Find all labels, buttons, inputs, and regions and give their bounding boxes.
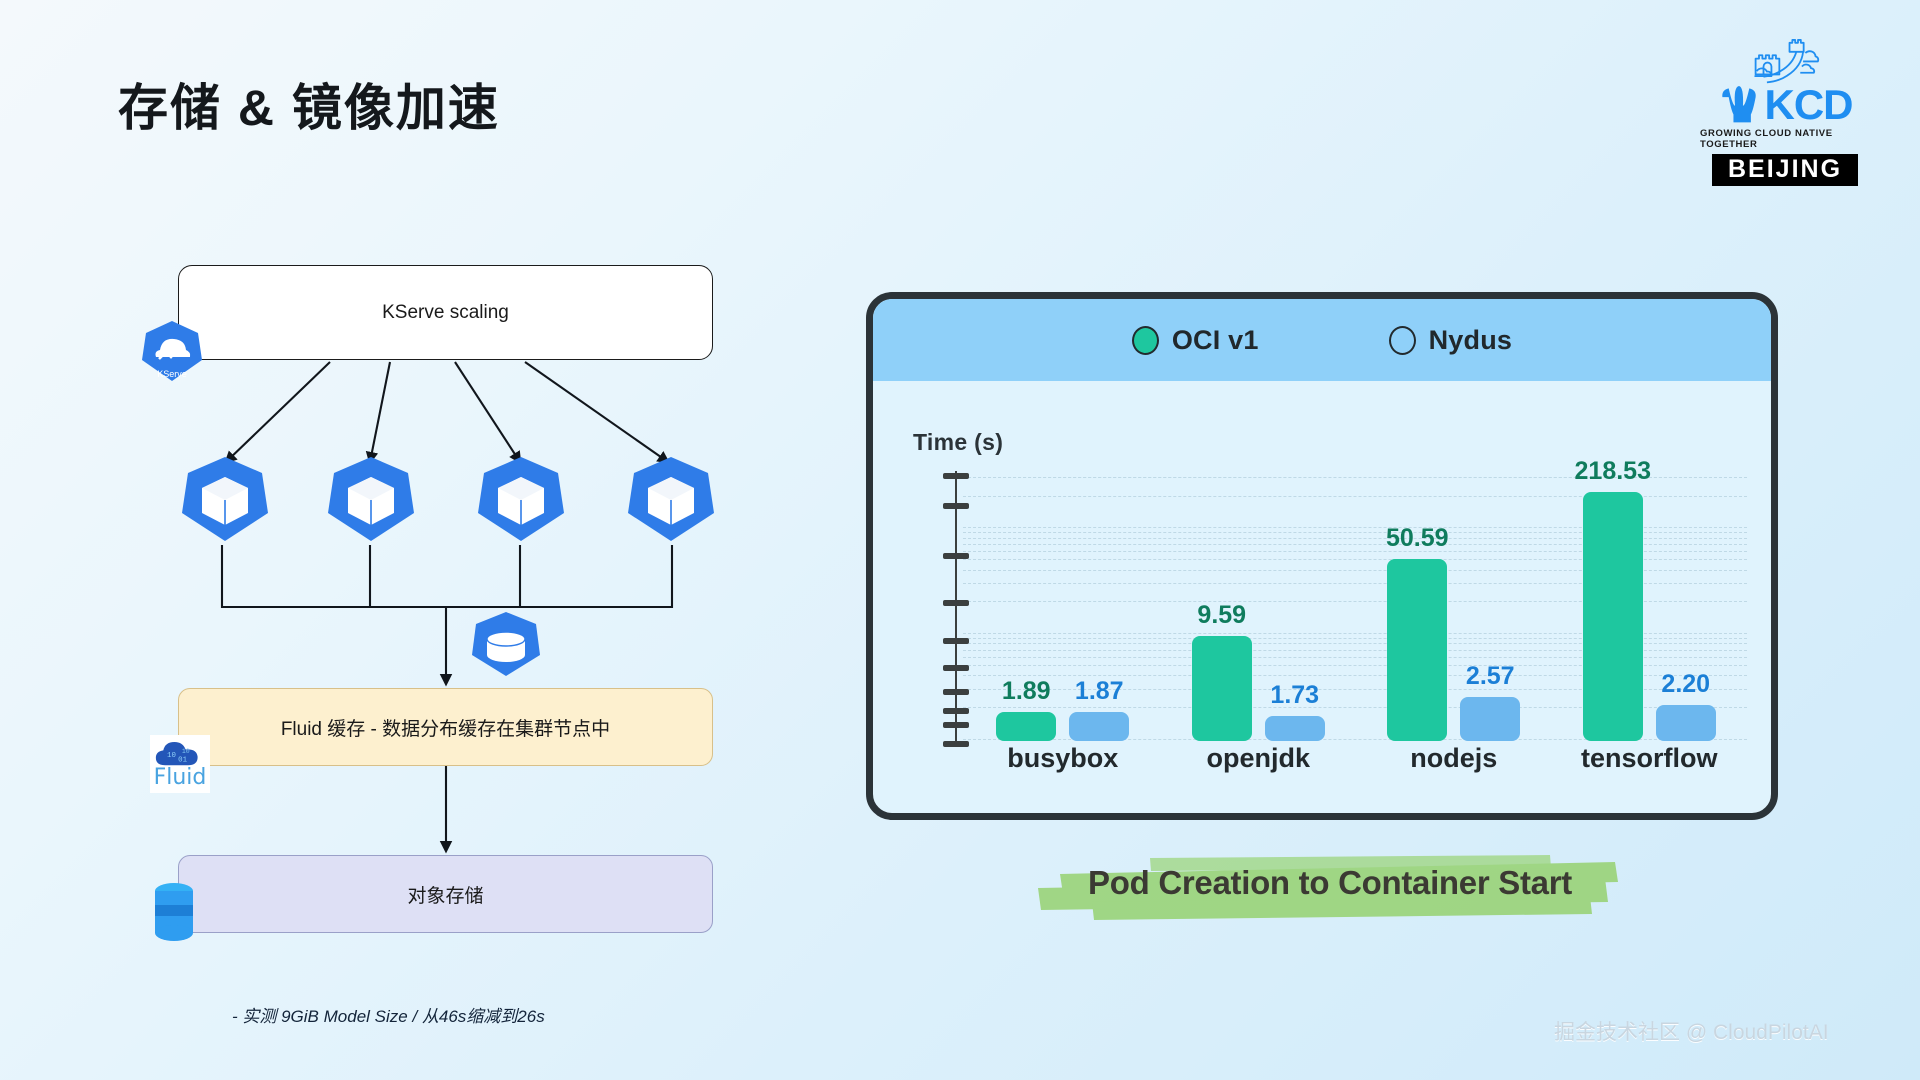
pod-node-3	[476, 455, 566, 548]
object-storage-label: 对象存储	[407, 881, 483, 908]
svg-text:KServe: KServe	[157, 369, 187, 379]
fluid-cache-label: Fluid 缓存 - 数据分布缓存在集群节点中	[281, 714, 610, 741]
legend-item-oci-v1[interactable]: OCI v1	[1132, 325, 1259, 356]
kserve-scaling-box: KServe scaling	[178, 265, 713, 360]
bar-value-label: 1.87	[1075, 677, 1124, 706]
watermark: 掘金技术社区 @ CloudPilotAI	[1554, 1016, 1829, 1046]
bar[interactable]	[1265, 716, 1325, 741]
bar[interactable]	[1069, 712, 1129, 741]
bar-value-label: 1.89	[1002, 677, 1051, 706]
kubernetes-persistent-volume-icon	[470, 610, 542, 678]
benchmark-chart-card: OCI v1 Nydus Time (s) 1.891.879.591.7350…	[866, 292, 1778, 820]
kcd-letters: KCD	[1765, 84, 1853, 126]
bar-group: 9.591.73	[1161, 477, 1357, 741]
fluid-cache-box: Fluid 缓存 - 数据分布缓存在集群节点中	[178, 688, 713, 766]
bar-group: 218.532.20	[1552, 477, 1748, 741]
legend-dot-oci-v1	[1132, 326, 1159, 355]
bar-wrapper: 1.89	[996, 477, 1056, 741]
diagram-footnote: - 实测 9GiB Model Size / 从46s缩减到26s	[232, 1002, 545, 1027]
bar-wrapper: 9.59	[1192, 477, 1252, 741]
bar-wrapper: 50.59	[1387, 477, 1447, 741]
fluid-wordmark: Fluid	[154, 769, 207, 788]
x-axis-label: nodejs	[1356, 743, 1552, 774]
y-axis	[955, 471, 957, 743]
bar[interactable]	[1656, 705, 1716, 741]
chart-bars: 1.891.879.591.7350.592.57218.532.20	[965, 477, 1747, 741]
kubernetes-pod-icon	[626, 455, 716, 543]
bar[interactable]	[1192, 636, 1252, 741]
bar[interactable]	[996, 712, 1056, 741]
legend-label-nydus: Nydus	[1429, 325, 1513, 356]
pod-node-4	[626, 455, 716, 548]
x-axis-label: busybox	[965, 743, 1161, 774]
bar-wrapper: 1.87	[1069, 477, 1129, 741]
pod-node-2	[326, 455, 416, 548]
kcd-beijing-logo: KCD GROWING CLOUD NATIVE TOGETHER BEIJIN…	[1700, 36, 1870, 186]
bar-value-label: 2.20	[1661, 670, 1710, 699]
chart-caption-text: Pod Creation to Container Start	[1030, 864, 1630, 902]
object-storage-box: 对象存储	[178, 855, 713, 933]
bar-value-label: 218.53	[1575, 457, 1651, 486]
kubernetes-pod-icon	[180, 455, 270, 543]
svg-text:10: 10	[167, 752, 176, 760]
x-axis-label: openjdk	[1161, 743, 1357, 774]
legend-label-oci-v1: OCI v1	[1172, 325, 1259, 356]
architecture-diagram: KServe scaling KServe	[0, 0, 760, 1080]
bar-value-label: 9.59	[1197, 601, 1246, 630]
hands-icon	[1718, 86, 1760, 124]
legend-dot-nydus	[1389, 326, 1416, 355]
y-axis-label: Time (s)	[913, 429, 1003, 456]
bar[interactable]	[1460, 697, 1520, 741]
bar-value-label: 1.73	[1270, 681, 1319, 710]
kubernetes-pod-icon	[326, 455, 416, 543]
chart-caption: Pod Creation to Container Start	[1030, 852, 1630, 924]
fluid-logo-icon: 10 01 10 Fluid	[150, 735, 210, 793]
bar-wrapper: 2.20	[1656, 477, 1716, 741]
kserve-logo-icon: KServe	[140, 320, 204, 382]
bar-group: 1.891.87	[965, 477, 1161, 741]
svg-text:01: 01	[178, 756, 187, 764]
chart-legend: OCI v1 Nydus	[873, 299, 1771, 381]
x-axis-label: tensorflow	[1552, 743, 1748, 774]
database-cylinder-icon	[152, 880, 196, 944]
bar[interactable]	[1387, 559, 1447, 741]
bar-wrapper: 1.73	[1265, 477, 1325, 741]
x-axis-labels: busyboxopenjdknodejstensorflow	[965, 743, 1747, 774]
bar[interactable]	[1583, 492, 1643, 741]
kcd-city-badge: BEIJING	[1712, 154, 1858, 186]
chart-plot-area: Time (s) 1.891.879.591.7350.592.57218.53…	[873, 381, 1771, 820]
kserve-scaling-label: KServe scaling	[382, 302, 509, 324]
kcd-tagline: GROWING CLOUD NATIVE TOGETHER	[1700, 128, 1870, 150]
legend-item-nydus[interactable]: Nydus	[1389, 325, 1513, 356]
svg-text:10: 10	[182, 748, 190, 755]
bar-value-label: 50.59	[1386, 524, 1449, 553]
pod-node-1	[180, 455, 270, 548]
bar-value-label: 2.57	[1466, 662, 1515, 691]
kubernetes-pod-icon	[476, 455, 566, 543]
great-wall-icon	[1740, 36, 1830, 86]
bar-group: 50.592.57	[1356, 477, 1552, 741]
bar-wrapper: 2.57	[1460, 477, 1520, 741]
bar-wrapper: 218.53	[1583, 477, 1643, 741]
